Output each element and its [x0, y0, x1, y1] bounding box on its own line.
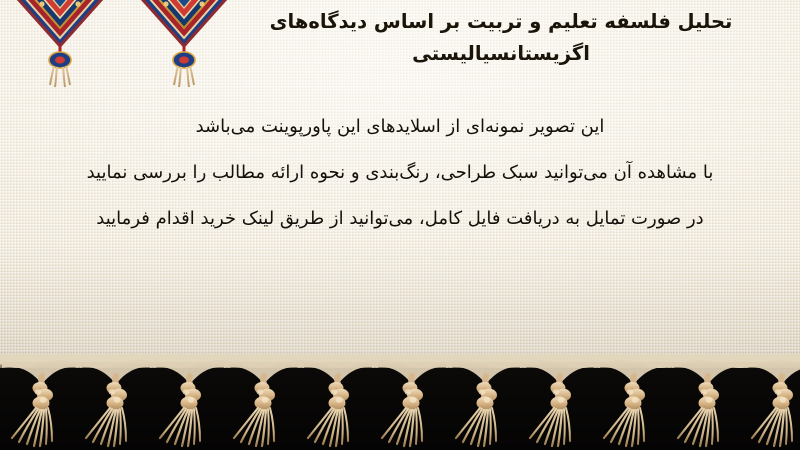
- medallion-icon: [130, 0, 238, 92]
- knotted-tassel-fringe: [0, 354, 800, 450]
- body-line-2: با مشاهده آن می‌توانید سبک طراحی، رنگ‌بن…: [40, 150, 760, 196]
- slide-title: تحلیل فلسفه تعلیم و تربیت بر اساس دیدگاه…: [228, 6, 774, 69]
- slide-title-line-2: اگزیستانسیالیستی: [228, 38, 774, 70]
- slide-canvas: تحلیل فلسفه تعلیم و تربیت بر اساس دیدگاه…: [0, 0, 800, 450]
- slide-body-text: این تصویر نمونه‌ای از اسلایدهای این پاور…: [40, 104, 760, 242]
- medallion-icon: [6, 0, 114, 92]
- slide-title-line-1: تحلیل فلسفه تعلیم و تربیت بر اساس دیدگاه…: [228, 6, 774, 38]
- body-line-3: در صورت تمایل به دریافت فایل کامل، می‌تو…: [40, 196, 760, 242]
- body-line-1: این تصویر نمونه‌ای از اسلایدهای این پاور…: [40, 104, 760, 150]
- carpet-medallion-ornament-left: [6, 0, 114, 92]
- carpet-medallion-ornament-right: [130, 0, 238, 92]
